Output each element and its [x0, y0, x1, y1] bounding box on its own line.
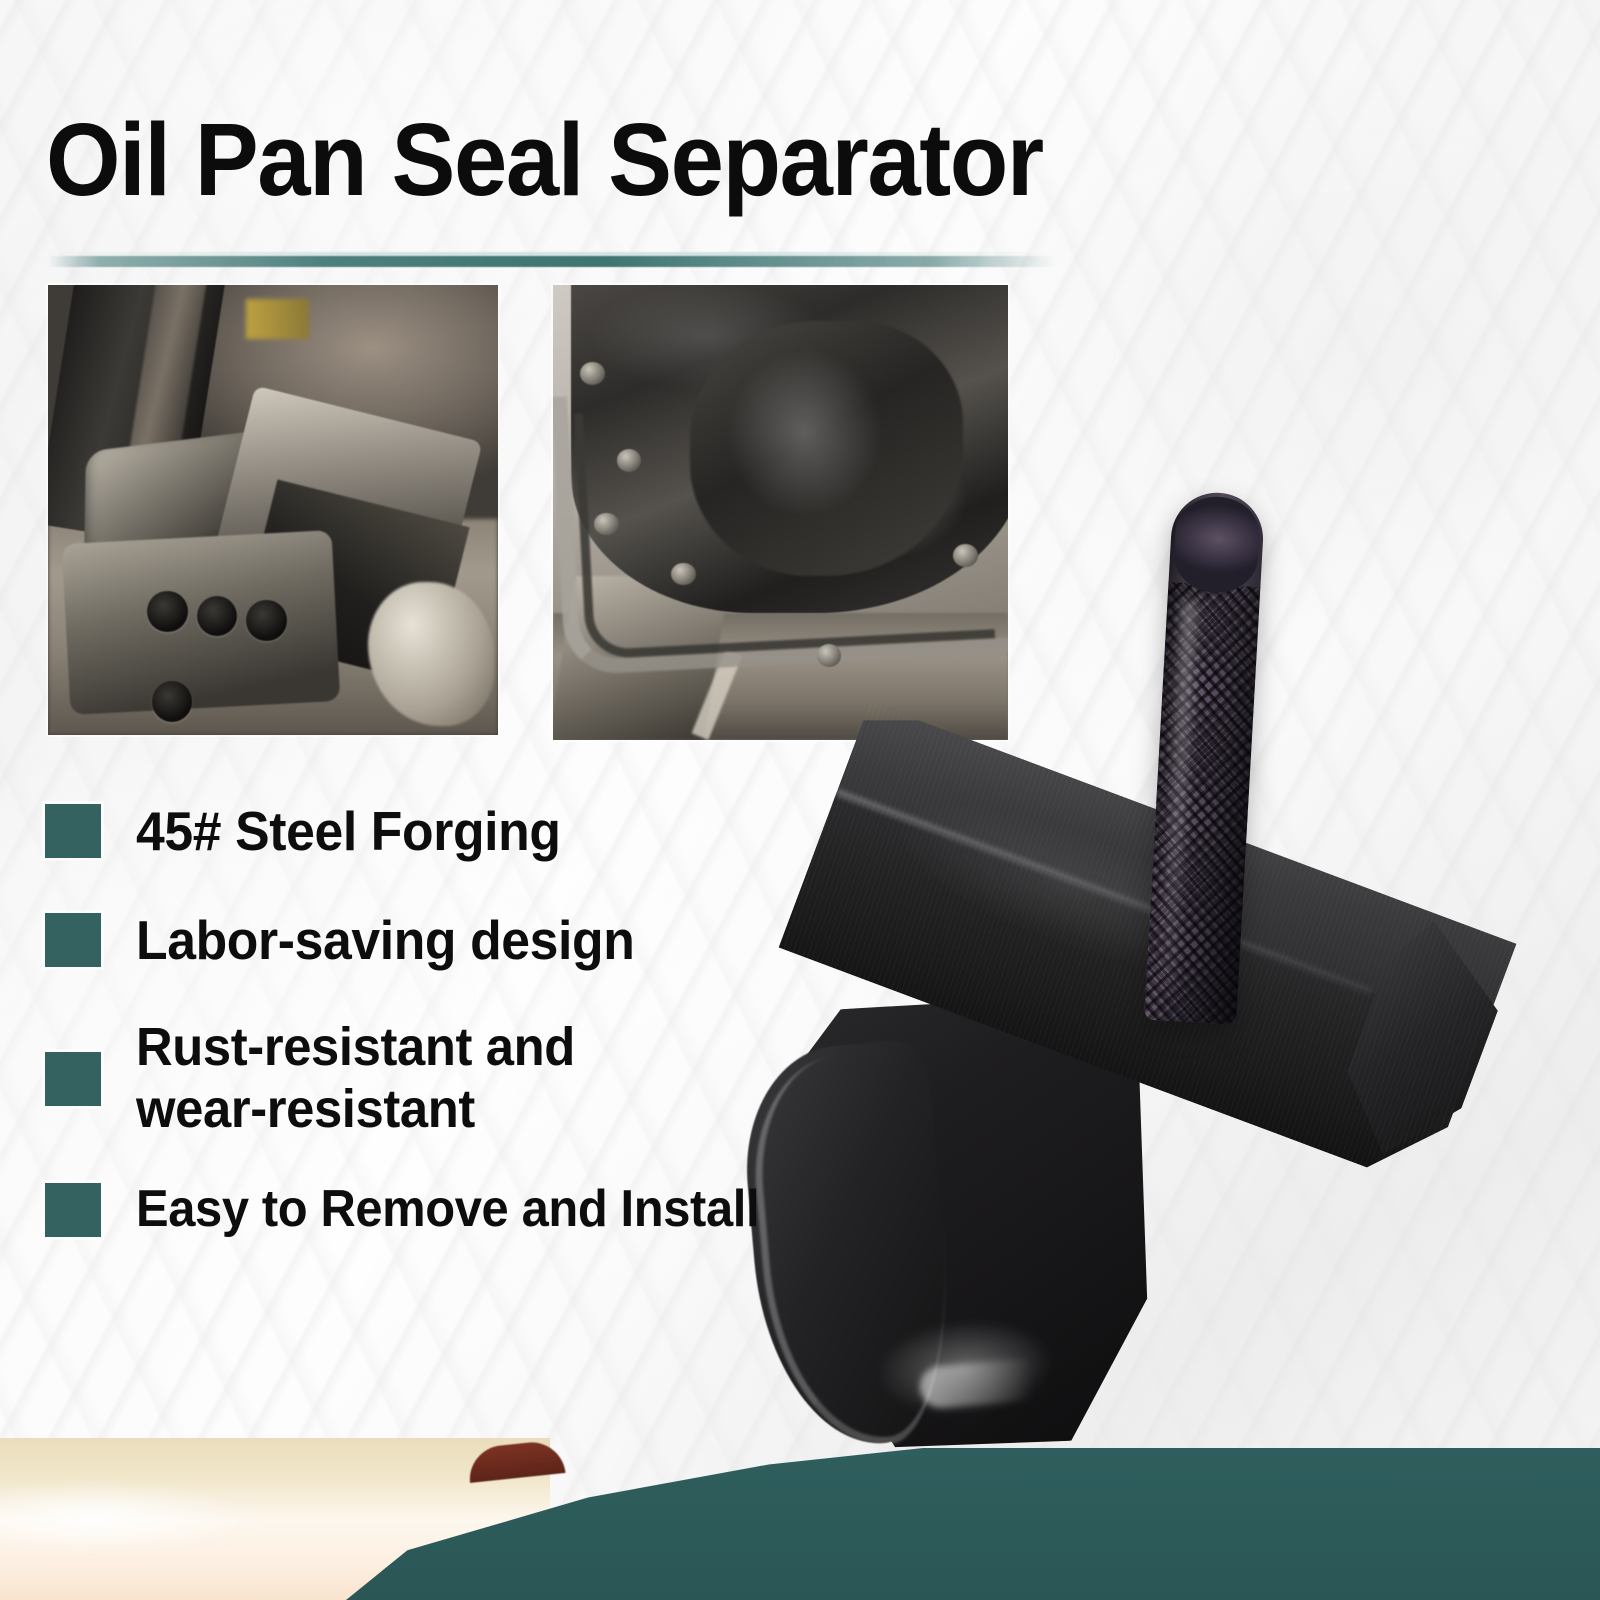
- flange-bolt: [580, 362, 605, 385]
- bullet-square-icon: [45, 804, 101, 858]
- workbench-yellow-object: [246, 299, 309, 340]
- bottom-cream-highlight: [0, 1470, 420, 1566]
- flange-bolt: [594, 513, 619, 536]
- bullet-square-icon: [45, 1052, 101, 1106]
- feature-label: Rust-resistant and wear-resistant: [136, 1017, 575, 1140]
- blade-gloss: [871, 1239, 1097, 1447]
- feature-item-rust-resistant: Rust-resistant and wear-resistant: [45, 1017, 885, 1140]
- feature-label: 45# Steel Forging: [136, 800, 561, 863]
- feature-item-easy-install: Easy to Remove and Install: [45, 1180, 885, 1239]
- flange-bolt: [671, 563, 696, 586]
- bullet-square-icon: [45, 913, 101, 967]
- title-underline-divider: [48, 256, 1056, 267]
- bolt-hole: [147, 591, 188, 632]
- bolt-hole: [152, 681, 193, 722]
- flange-bolt: [617, 449, 642, 472]
- feature-item-steel-forging: 45# Steel Forging: [45, 800, 885, 863]
- workbench-photo: [48, 285, 498, 735]
- bolt-hole: [246, 600, 287, 641]
- bullet-square-icon: [45, 1183, 101, 1237]
- pin-rounded-cap: [1172, 494, 1261, 595]
- page-title: Oil Pan Seal Separator: [46, 106, 1043, 214]
- bolt-hole: [197, 596, 238, 637]
- feature-label: Easy to Remove and Install: [136, 1180, 759, 1239]
- product-marketing-image: Oil Pan Seal Separator: [0, 0, 1600, 1600]
- feature-list: 45# Steel Forging Labor-saving design Ru…: [45, 800, 885, 1286]
- feature-item-labor-saving: Labor-saving design: [45, 909, 885, 972]
- feature-label: Labor-saving design: [136, 909, 634, 972]
